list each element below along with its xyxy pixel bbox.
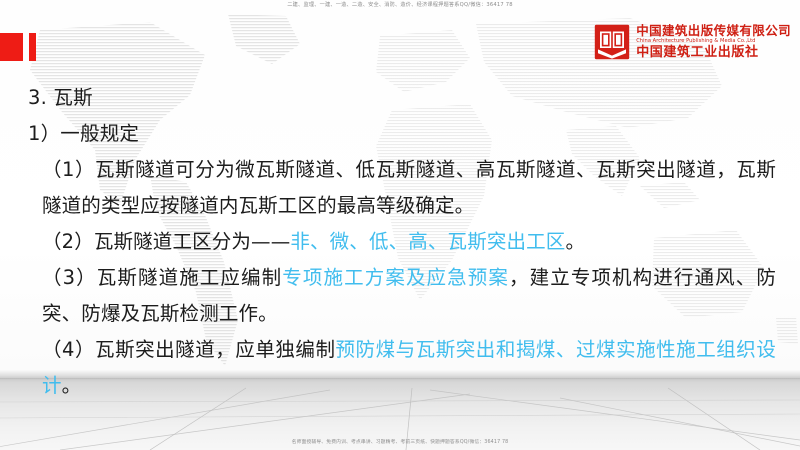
header-watermark: 二建、监理、一建、一造、二造、安全、消防、造价、经济课程押题答系QQ/微信：36… [0,1,800,10]
slide-body: 3. 瓦斯 1）一般规定 （1）瓦斯隧道可分为微瓦斯隧道、低瓦斯隧道、高瓦斯隧道… [28,80,776,404]
section-title: 3. 瓦斯 [28,80,776,116]
clause-2-tail: 。 [565,230,585,253]
clause-item-2: （2）瓦斯隧道工区分为——非、微、低、高、瓦斯突出工区。 [28,224,776,260]
clause-1-text: （1）瓦斯隧道可分为微瓦斯隧道、低瓦斯隧道、高瓦斯隧道、瓦斯突出隧道，瓦斯隧道的… [42,158,776,217]
clause-item-3: （3）瓦斯隧道施工应编制专项施工方案及应急预案，建立专项机构进行通风、防突、防爆… [28,260,776,332]
logo-company-en: China Architecture Publishing & Media Co… [636,39,791,44]
red-square-decor-icon [0,33,23,61]
logo-company-cn: 中国建筑出版传媒有限公司 [636,25,791,38]
clause-3-highlight: 专项施工方案及应急预案 [282,266,509,289]
clause-4-lead: （4）瓦斯突出隧道，应单独编制 [42,338,336,361]
red-bar-decor-icon [29,33,36,61]
clause-2-lead: （2）瓦斯隧道工区分为—— [42,230,290,253]
clause-3-lead: （3）瓦斯隧道施工应编制 [42,266,282,289]
publisher-logo: 中国建筑出版传媒有限公司 China Architecture Publishi… [594,24,791,60]
footer-watermark: 名师面授辅导、免费内训、考点串讲、习题精考、考前三页纸、快题押题答系QQ/微信：… [0,439,800,447]
subsection-title: 1）一般规定 [28,116,776,152]
publisher-book-logo-icon [594,24,630,60]
slide-canvas: 二建、监理、一建、一造、二造、安全、消防、造价、经济课程押题答系QQ/微信：36… [0,0,800,450]
logo-press-cn: 中国建筑工业出版社 [636,46,791,59]
clause-item-1: （1）瓦斯隧道可分为微瓦斯隧道、低瓦斯隧道、高瓦斯隧道、瓦斯突出隧道，瓦斯隧道的… [28,152,776,224]
clause-item-4: （4）瓦斯突出隧道，应单独编制预防煤与瓦斯突出和揭煤、过煤实施性施工组织设计。 [28,332,776,404]
clause-4-tail: 。 [62,374,82,397]
clause-2-highlight: 非、微、低、高、瓦斯突出工区 [290,230,565,253]
